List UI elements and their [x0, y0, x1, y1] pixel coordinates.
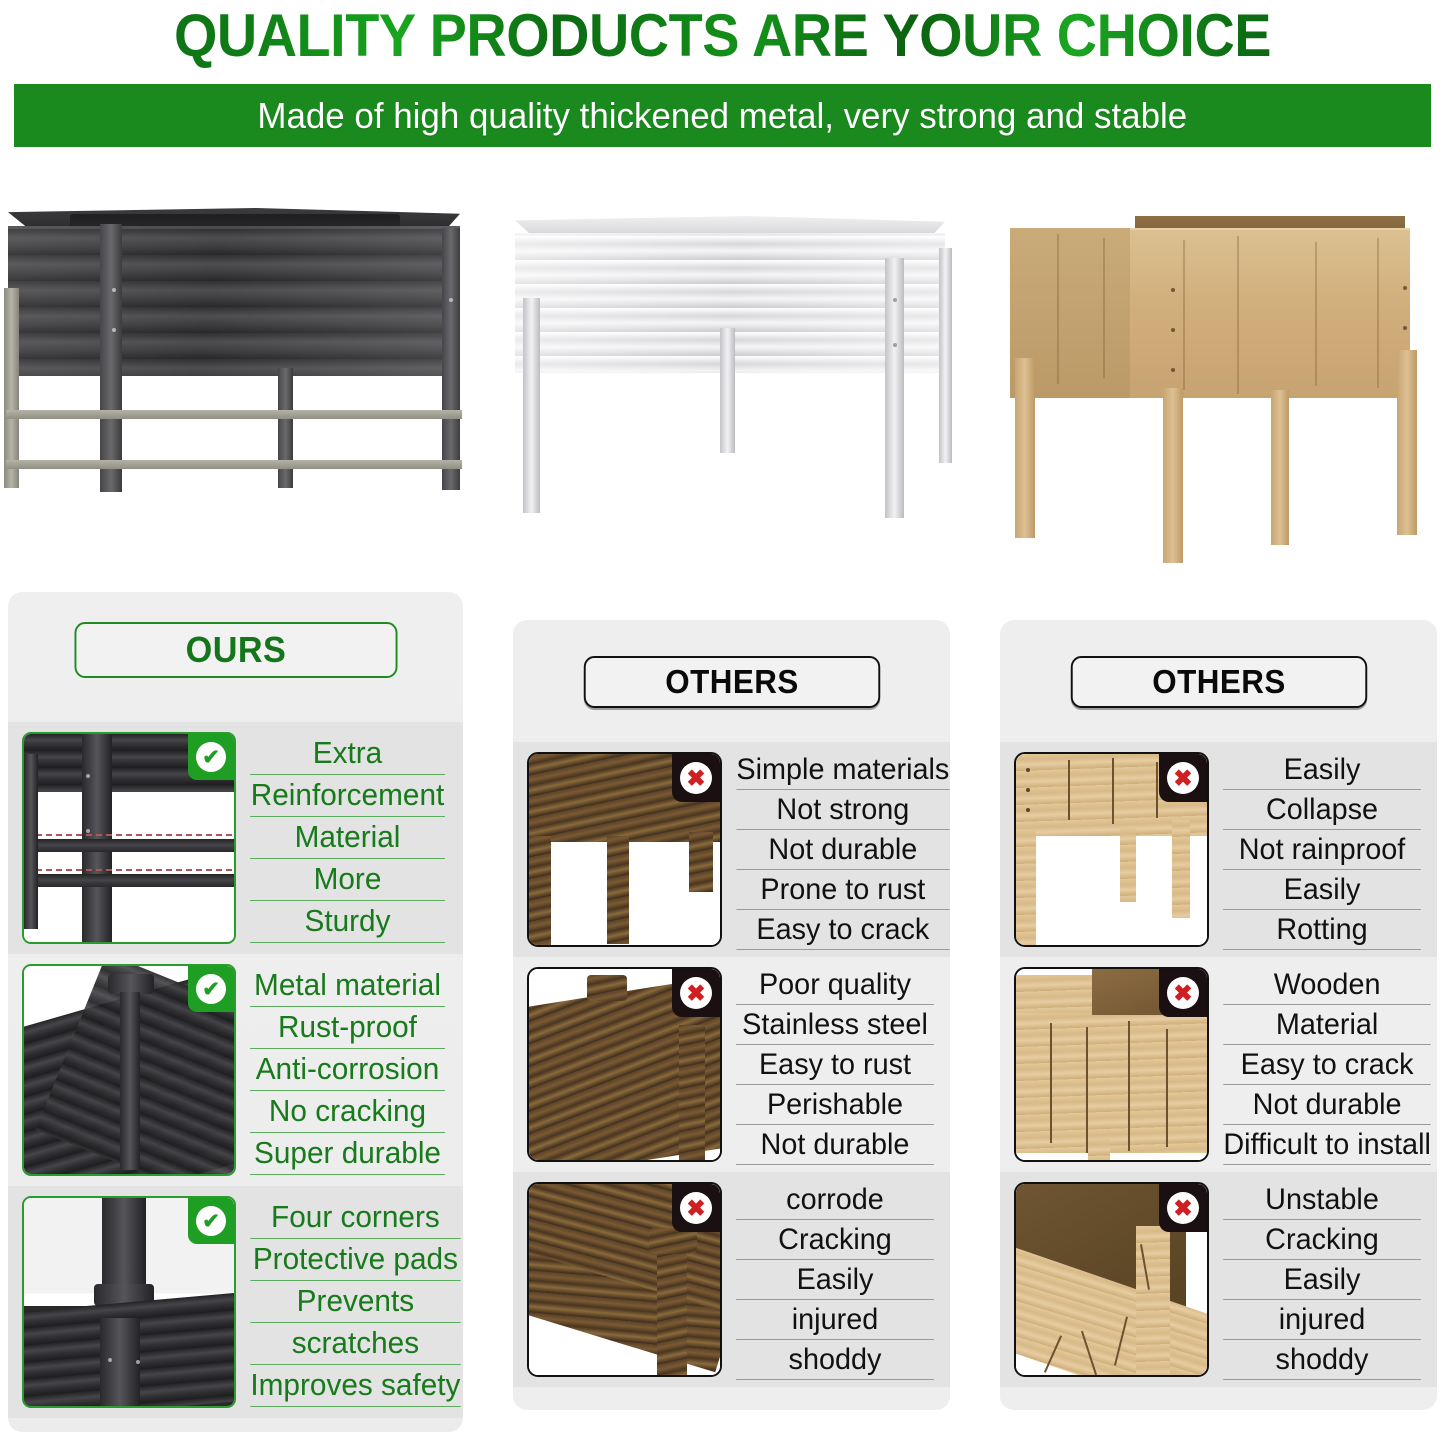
others-feature-row: ✖ corrode Cracking Easily injured shoddy: [513, 1172, 950, 1387]
cross-icon: ✖: [672, 969, 720, 1017]
ours-heading: OURS: [74, 622, 397, 678]
page-title: QUALITY PRODUCTS ARE YOUR CHOICE: [51, 2, 1395, 70]
others-metal-heading: OTHERS: [583, 656, 879, 708]
others-metal-feature-rows: ✖ Simple materials Not strong Not durabl…: [513, 742, 950, 1387]
feature-text: Cracking: [1223, 1220, 1421, 1260]
ours-feature-list: Four corners Protective pads Prevents sc…: [236, 1196, 465, 1408]
feature-text: corrode: [736, 1180, 934, 1220]
others-feature-row: ✖ Wooden Material Easy to crack Not dura…: [1000, 957, 1437, 1172]
feature-text: Wooden: [1223, 965, 1431, 1005]
feature-text: Easily: [736, 1260, 934, 1300]
ours-feature-list: Metal material Rust-proof Anti-corrosion…: [236, 964, 449, 1176]
cross-icon: ✖: [1159, 1184, 1207, 1232]
feature-text: Rotting: [1223, 910, 1421, 950]
check-icon: ✔: [188, 966, 234, 1012]
ours-feature-row: ✔ Extra Reinforcement Material More Stur…: [8, 722, 463, 954]
feature-text: Anti-corrosion: [250, 1049, 445, 1091]
check-icon: ✔: [188, 1198, 234, 1244]
others-thumb-rusty-bed-legs: ✖: [527, 752, 722, 947]
others-wood-heading-wrap: OTHERS: [1000, 656, 1437, 708]
feature-text: No cracking: [250, 1091, 445, 1133]
feature-text: Rust-proof: [250, 1007, 445, 1049]
others-feature-list: Wooden Material Easy to crack Not durabl…: [1209, 967, 1435, 1162]
feature-text: Easy to rust: [736, 1045, 934, 1085]
others-thumb-rusted-bed-corner: ✖: [527, 967, 722, 1162]
feature-text: Metal material: [250, 965, 445, 1007]
cross-icon: ✖: [1159, 969, 1207, 1017]
feature-text: Improves safety: [250, 1365, 460, 1407]
others-feature-row: ✖ Poor quality Stainless steel Easy to r…: [513, 957, 950, 1172]
feature-text: Prone to rust: [736, 870, 949, 910]
others-feature-row: ✖ Easily Collapse Not rainproof Easily R…: [1000, 742, 1437, 957]
cross-icon: ✖: [672, 1184, 720, 1232]
feature-text: Super durable: [250, 1133, 445, 1175]
feature-text: Unstable: [1223, 1180, 1421, 1220]
feature-text: Extra: [250, 733, 445, 775]
hero-image-dark-metal-bed: [0, 178, 495, 598]
feature-text: Reinforcement: [250, 775, 445, 817]
ours-heading-wrap: OURS: [8, 622, 463, 678]
feature-text: Not durable: [736, 830, 949, 870]
hero-product-row: [0, 178, 1445, 598]
hero-image-silver-metal-bed: [495, 178, 975, 598]
feature-text: Prevents: [250, 1281, 460, 1323]
cross-icon: ✖: [672, 754, 720, 802]
others-feature-list: corrode Cracking Easily injured shoddy: [722, 1182, 938, 1377]
others-feature-list: Simple materials Not strong Not durable …: [722, 752, 954, 947]
others-feature-list: Easily Collapse Not rainproof Easily Rot…: [1209, 752, 1425, 947]
comparison-panel-ours: OURS ✔ Extra Reinforcement: [8, 592, 463, 1432]
feature-text: Difficult to install: [1223, 1125, 1431, 1165]
feature-text: scratches: [250, 1323, 460, 1365]
ours-feature-rows: ✔ Extra Reinforcement Material More Stur…: [8, 722, 463, 1418]
comparison-panel-others-metal: OTHERS ✖ Simple materials Not strong Not…: [513, 620, 950, 1410]
feature-text: Material: [250, 817, 445, 859]
feature-text: Not strong: [736, 790, 949, 830]
feature-text: Not durable: [1223, 1085, 1431, 1125]
feature-text: injured: [1223, 1300, 1421, 1340]
feature-text: Easy to crack: [1223, 1045, 1431, 1085]
others-wood-feature-rows: ✖ Easily Collapse Not rainproof Easily R…: [1000, 742, 1437, 1387]
feature-text: Simple materials: [736, 750, 949, 790]
feature-text: Poor quality: [736, 965, 934, 1005]
feature-text: Stainless steel: [736, 1005, 934, 1045]
feature-text: Easily: [1223, 1260, 1421, 1300]
feature-text: injured: [736, 1300, 934, 1340]
ours-feature-list: Extra Reinforcement Material More Sturdy: [236, 732, 449, 944]
others-thumb-cracked-wooden-panel: ✖: [1014, 967, 1209, 1162]
check-icon: ✔: [188, 734, 234, 780]
feature-text: Not rainproof: [1223, 830, 1421, 870]
others-thumb-corroded-metal-edge: ✖: [527, 1182, 722, 1377]
others-feature-row: ✖ Simple materials Not strong Not durabl…: [513, 742, 950, 957]
feature-text: Material: [1223, 1005, 1431, 1045]
others-thumb-wooden-panel-legs: ✖: [1014, 752, 1209, 947]
ours-thumb-reinforced-frame: ✔: [22, 732, 236, 944]
header-subtitle: Made of high quality thickened metal, ve…: [258, 95, 1188, 137]
comparison-panel-others-wood: OTHERS ✖ Easily Collaps: [1000, 620, 1437, 1410]
hero-image-wooden-planter: [985, 178, 1445, 598]
others-metal-heading-wrap: OTHERS: [513, 656, 950, 708]
ours-feature-row: ✔ Four corners Protective pads Prevents …: [8, 1186, 463, 1418]
others-wood-heading: OTHERS: [1070, 656, 1366, 708]
feature-text: Not durable: [736, 1125, 934, 1165]
header-banner: Made of high quality thickened metal, ve…: [14, 84, 1431, 147]
feature-text: Collapse: [1223, 790, 1421, 830]
feature-text: Easily: [1223, 750, 1421, 790]
feature-text: shoddy: [1223, 1340, 1421, 1380]
feature-text: shoddy: [736, 1340, 934, 1380]
feature-text: Easily: [1223, 870, 1421, 910]
cross-icon: ✖: [1159, 754, 1207, 802]
others-feature-list: Unstable Cracking Easily injured shoddy: [1209, 1182, 1425, 1377]
others-feature-row: ✖ Unstable Cracking Easily injured shodd…: [1000, 1172, 1437, 1387]
others-feature-list: Poor quality Stainless steel Easy to rus…: [722, 967, 938, 1162]
ours-thumb-metal-corner-joint: ✔: [22, 964, 236, 1176]
feature-text: Perishable: [736, 1085, 934, 1125]
ours-feature-row: ✔ Metal material Rust-proof Anti-corrosi…: [8, 954, 463, 1186]
feature-text: Sturdy: [250, 901, 445, 943]
feature-text: Protective pads: [250, 1239, 460, 1281]
feature-text: Four corners: [250, 1197, 460, 1239]
ours-thumb-corner-protective-pad: ✔: [22, 1196, 236, 1408]
feature-text: Easy to crack: [736, 910, 949, 950]
feature-text: Cracking: [736, 1220, 934, 1260]
others-thumb-cracked-wooden-corner: ✖: [1014, 1182, 1209, 1377]
feature-text: More: [250, 859, 445, 901]
